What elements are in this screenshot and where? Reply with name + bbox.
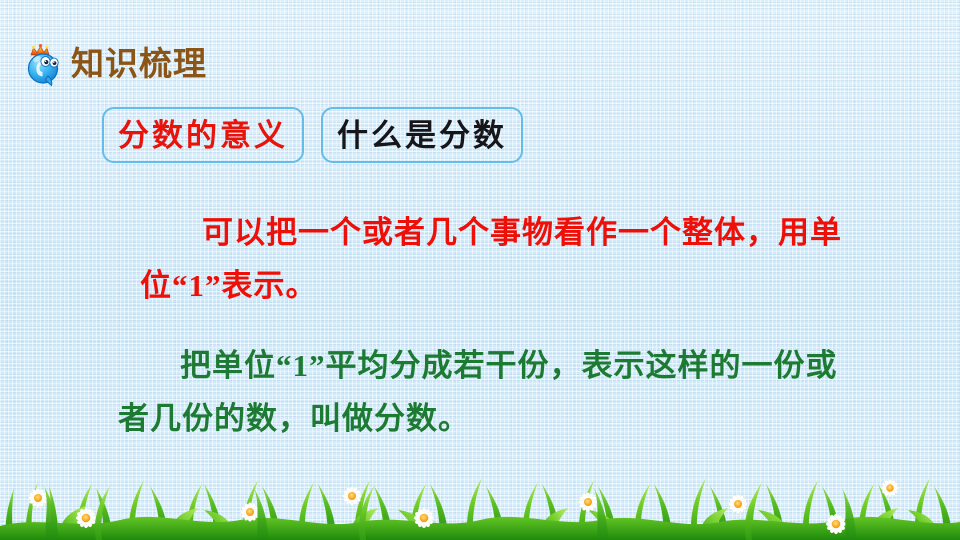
topic-chip-what-is-fraction[interactable]: 什么是分数 — [321, 107, 523, 163]
topic-chip-label: 分数的意义 — [118, 120, 288, 151]
topic-chip-fraction-meaning[interactable]: 分数的意义 — [102, 107, 304, 163]
grass-and-daisies-border — [0, 454, 960, 540]
topic-chip-row: 分数的意义 什么是分数 — [102, 107, 523, 163]
slide-header: 知识梳理 — [24, 42, 207, 88]
definition-paragraph-whole: 可以把一个或者几个事物看作一个整体，用单位“1”表示。 — [140, 206, 860, 313]
definition-paragraph-fraction: 把单位“1”平均分成若干份，表示这样的一份或者几份的数，叫做分数。 — [118, 339, 860, 446]
lesson-body: 可以把一个或者几个事物看作一个整体，用单位“1”表示。 把单位“1”平均分成若干… — [140, 206, 860, 445]
mascot-q-crown-icon — [24, 42, 64, 88]
topic-chip-label: 什么是分数 — [337, 120, 507, 151]
page-title: 知识梳理 — [71, 49, 207, 82]
slide-canvas: 知识梳理 分数的意义 什么是分数 可以把一个或者几个事物看作一个整体，用单位“1… — [0, 0, 960, 540]
